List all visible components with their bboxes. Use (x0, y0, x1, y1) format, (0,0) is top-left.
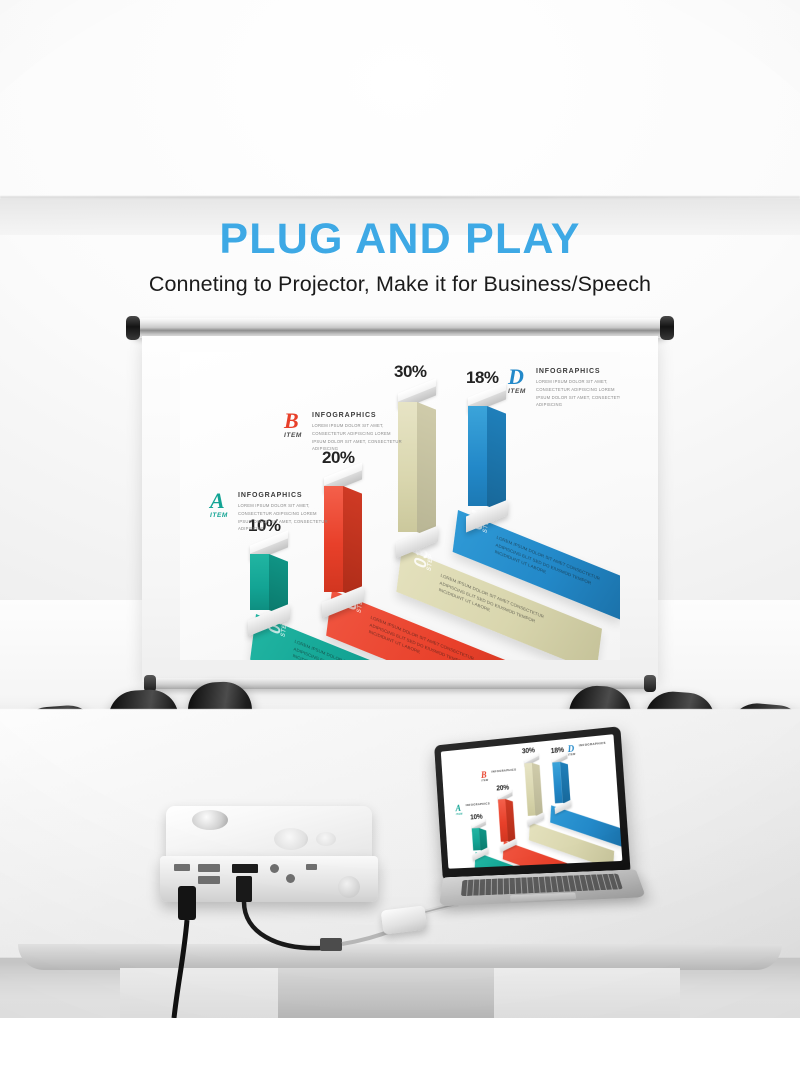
roller-end-cap-right (660, 316, 674, 340)
bar-c-side (417, 402, 436, 540)
legend-letter-a: A (210, 490, 225, 512)
screen-surface: 04 STEP LOREM IPSUM DOLOR SIT AMET CONSE… (142, 336, 658, 682)
laptop-legend-item-label-d: ITEM (568, 753, 576, 757)
projection-screen: 04 STEP LOREM IPSUM DOLOR SIT AMET CONSE… (130, 318, 670, 690)
legend-item-label-d: ITEM (508, 388, 526, 395)
step-word-03: STEP (427, 553, 435, 572)
vga-port-3[interactable] (232, 864, 258, 873)
hdmi-cable-left (168, 886, 228, 1018)
page-subtitle: Conneting to Projector, Make it for Busi… (0, 272, 800, 297)
page-title: PLUG AND PLAY (0, 218, 800, 261)
bar-d-side (487, 406, 506, 514)
hdmi-port[interactable] (174, 864, 190, 871)
vga-port-1[interactable] (198, 864, 220, 872)
legend-body-b: LOREM IPSUM DOLOR SIT AMET, CONSECTETUR … (312, 422, 402, 453)
laptop-bar-b-value: 20% (496, 783, 509, 792)
legend-body-a: LOREM IPSUM DOLOR SIT AMET, CONSECTETUR … (238, 502, 328, 533)
legend-body-d: LOREM IPSUM DOLOR SIT AMET, CONSECTETUR … (536, 378, 620, 409)
legend-heading-d: INFOGRAPHICS (536, 368, 600, 375)
conference-table-pedestal (278, 968, 494, 1018)
legend-item-label-b: ITEM (284, 432, 302, 439)
legend-letter-d: D (508, 366, 524, 388)
laptop-lid: 18% 30% (434, 726, 631, 881)
laptop: 18% 30% (424, 736, 644, 926)
scene-photo: PLUG AND PLAY Conneting to Projector, Ma… (0, 0, 800, 1018)
laptop-display: 18% 30% (441, 734, 623, 869)
laptop-trackpad[interactable] (510, 892, 576, 901)
legend-heading-b: INFOGRAPHICS (312, 412, 376, 419)
laptop-legend-item-b: B ITEM INFOGRAPHICS (481, 766, 527, 770)
laptop-legend-item-a: A ITEM INFOGRAPHICS (455, 801, 500, 804)
legend-item-label-a: ITEM (210, 512, 228, 519)
screen-roller-bar (130, 318, 670, 338)
laptop-legend-item-d: D ITEM INFOGRAPHICS (567, 740, 617, 745)
laptop-infographic-chart: 18% 30% (441, 734, 623, 869)
bar-d-value: 18% (466, 368, 499, 388)
laptop-bar-a-value: 10% (470, 813, 483, 822)
vga-port-2[interactable] (198, 876, 220, 884)
laptop-bar-d-value: 18% (550, 746, 564, 755)
laptop-legend-heading-a: INFOGRAPHICS (466, 803, 490, 808)
projector-zoom-dial (316, 832, 336, 846)
legend-heading-a: INFOGRAPHICS (238, 492, 302, 499)
usb-port[interactable] (306, 864, 317, 870)
bar-a-front (250, 554, 269, 610)
projector-focus-dial (274, 828, 308, 850)
bar-c-value: 30% (394, 362, 427, 382)
audio-port-1[interactable] (270, 864, 279, 873)
infographic-chart: 04 STEP LOREM IPSUM DOLOR SIT AMET CONSE… (180, 352, 620, 660)
projector-lens (192, 810, 228, 830)
roller-end-cap-left (126, 316, 140, 340)
laptop-legend-heading-b: INFOGRAPHICS (491, 768, 516, 773)
laptop-bar-c-value: 30% (522, 746, 535, 755)
bar-b-side (343, 486, 362, 600)
laptop-bar-d-side (560, 762, 571, 806)
laptop-legend-item-label-b: ITEM (481, 779, 488, 782)
laptop-legend-item-label-a: ITEM (456, 812, 463, 815)
projector-body-top (166, 806, 372, 862)
laptop-legend-heading-d: INFOGRAPHICS (579, 742, 606, 748)
product-marketing-image: PLUG AND PLAY Conneting to Projector, Ma… (0, 0, 800, 1091)
projected-image-area: 04 STEP LOREM IPSUM DOLOR SIT AMET CONSE… (180, 352, 620, 660)
bar-d-front (468, 406, 487, 506)
legend-letter-b: B (284, 410, 299, 432)
